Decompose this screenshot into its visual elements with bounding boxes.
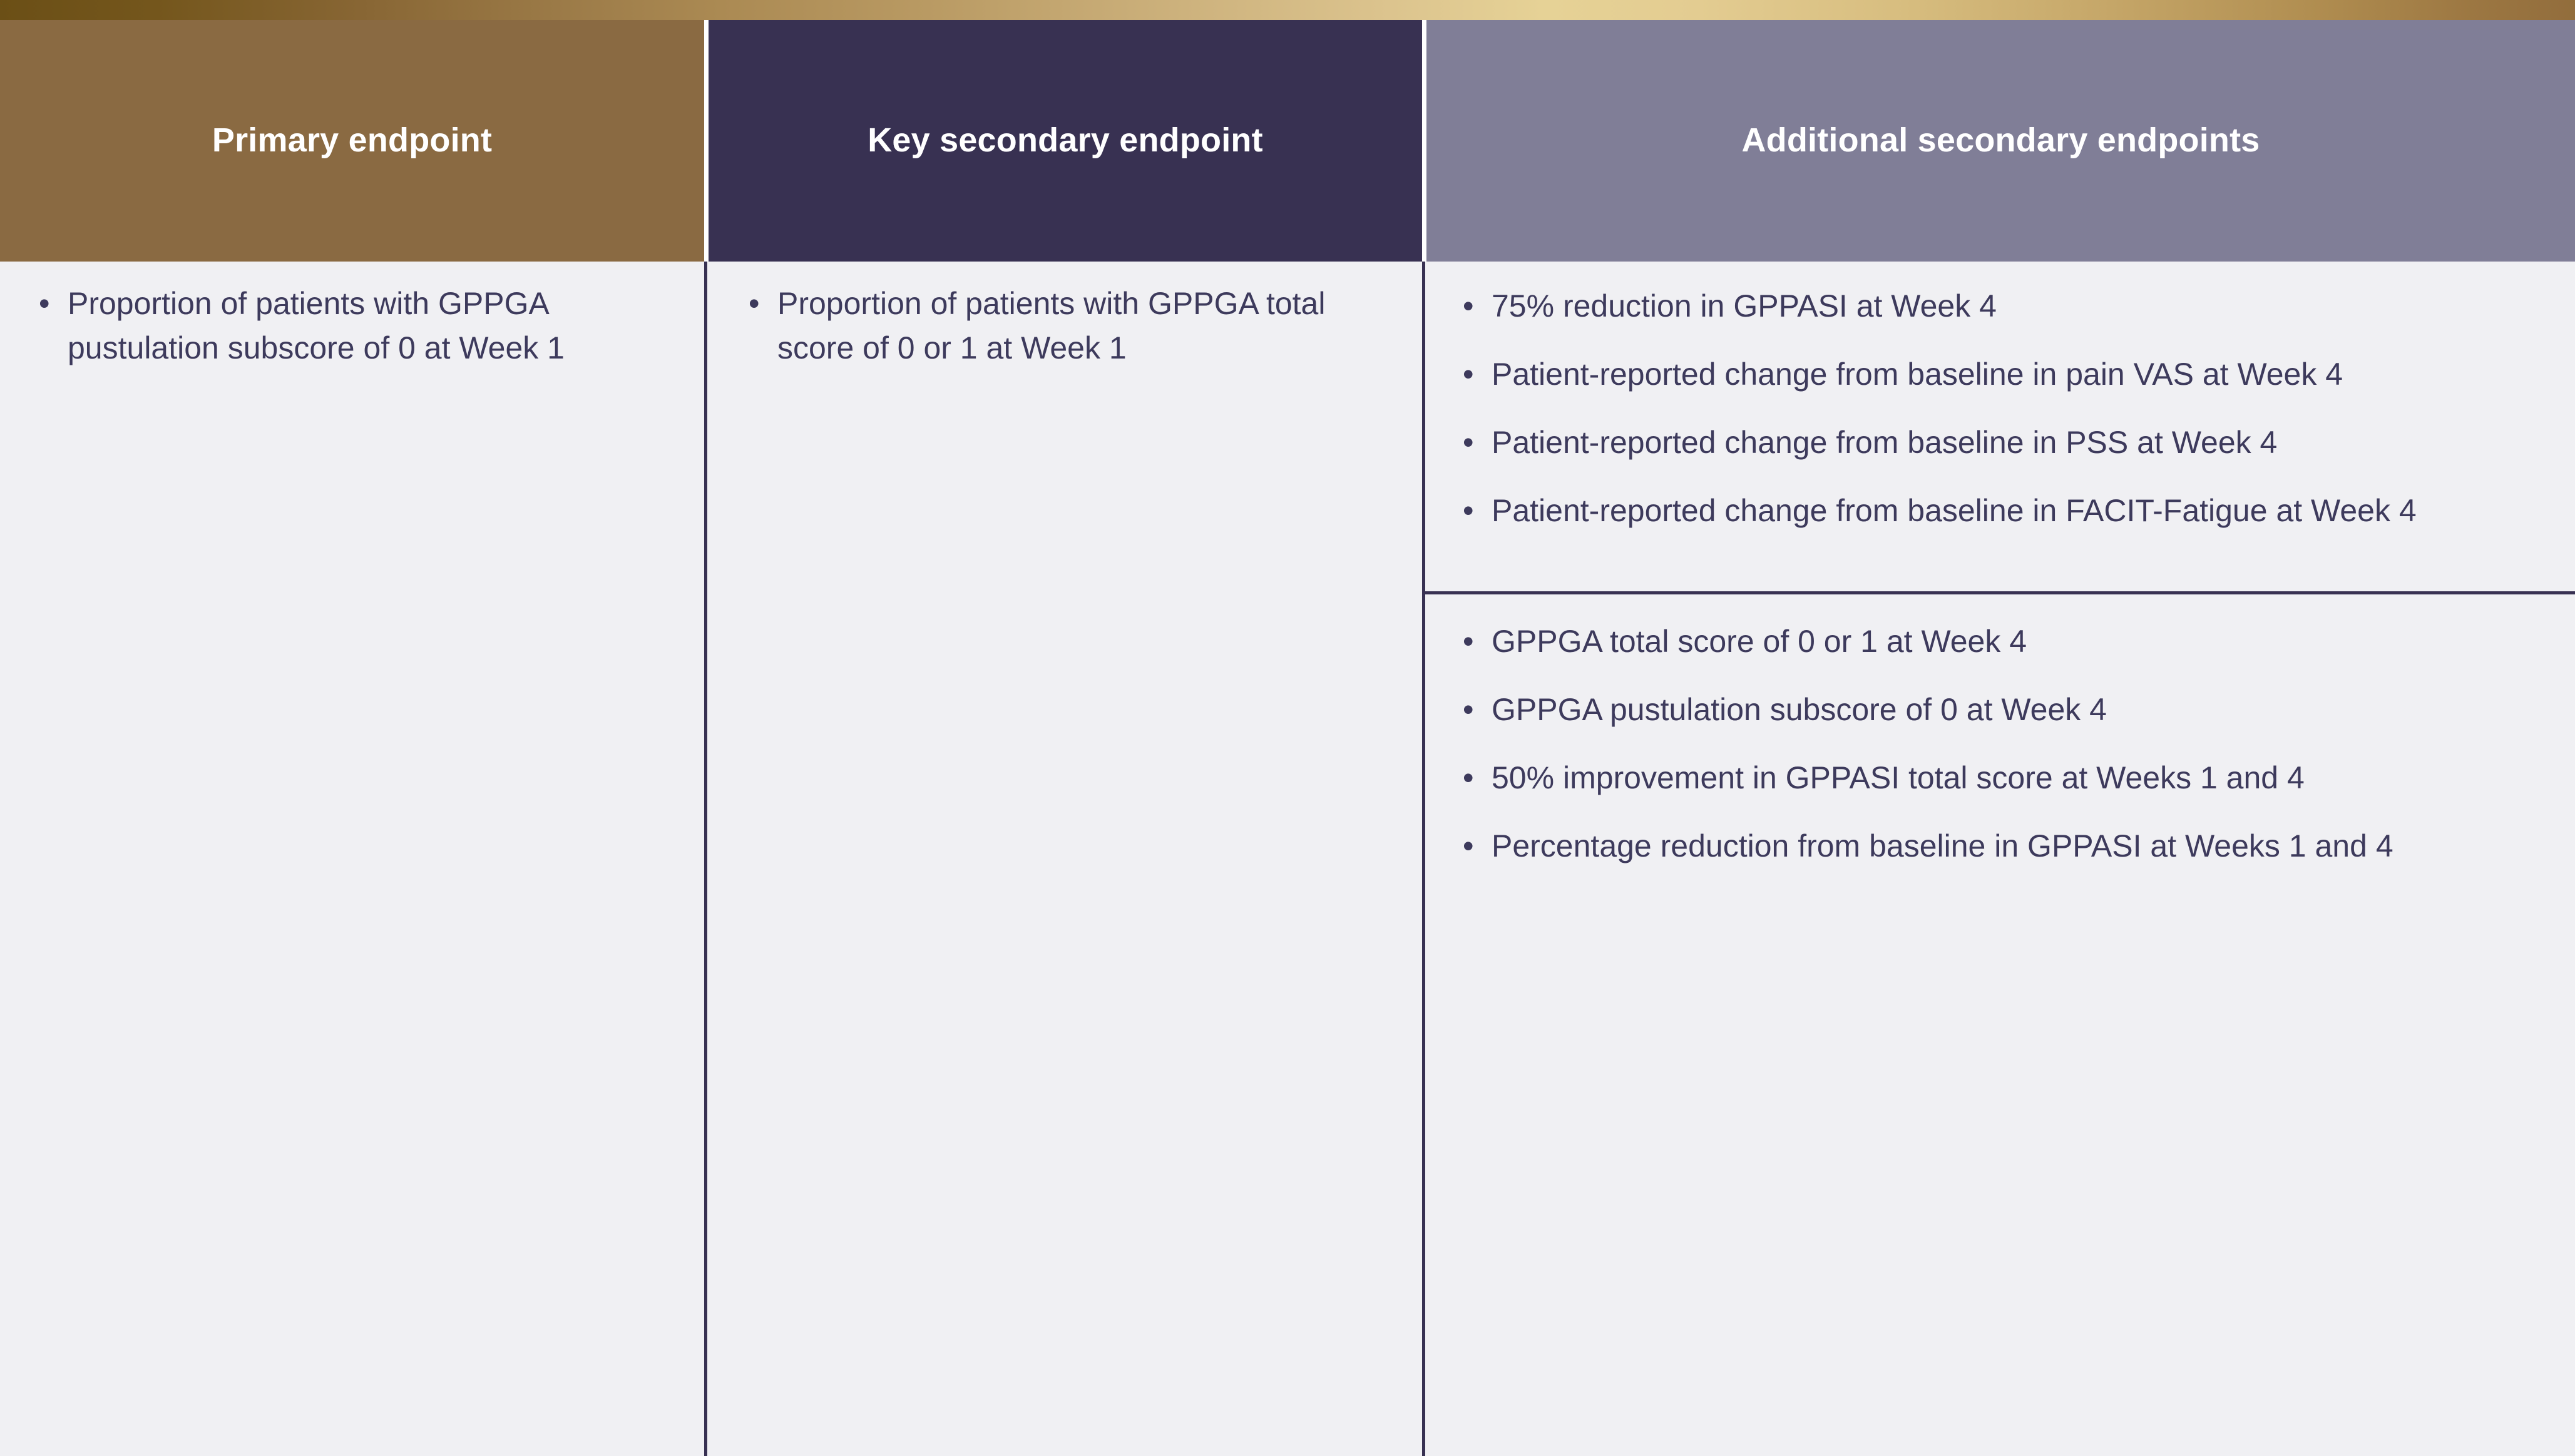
column-key-secondary-endpoint-content: Proportion of patients with GPPGA total … <box>707 262 1422 370</box>
bullet-list-primary-endpoint: Proportion of patients with GPPGA pustul… <box>39 262 660 370</box>
bullet-list-additional-section-2: GPPGA total score of 0 or 1 at Week 4 GP… <box>1463 619 2531 868</box>
header-title-key-secondary-endpoint: Key secondary endpoint <box>868 122 1263 159</box>
list-item: Patient-reported change from baseline in… <box>1463 352 2531 397</box>
bullet-list-additional-section-1: 75% reduction in GPPASI at Week 4 Patien… <box>1463 284 2531 533</box>
column-key-secondary-endpoint: Proportion of patients with GPPGA total … <box>704 262 1422 1456</box>
table-body-row: Proportion of patients with GPPGA pustul… <box>0 262 2575 1456</box>
additional-endpoints-section-exploratory: GPPGA total score of 0 or 1 at Week 4 GP… <box>1425 591 2575 893</box>
header-cell-primary-endpoint: Primary endpoint <box>0 20 704 262</box>
list-item: Percentage reduction from baseline in GP… <box>1463 824 2531 868</box>
list-item: 50% improvement in GPPASI total score at… <box>1463 756 2531 800</box>
additional-endpoints-section-week4: 75% reduction in GPPASI at Week 4 Patien… <box>1425 262 2575 558</box>
header-cell-key-secondary-endpoint: Key secondary endpoint <box>709 20 1422 262</box>
header-title-primary-endpoint: Primary endpoint <box>212 122 492 159</box>
gold-accent-strip <box>0 0 2575 20</box>
list-item: GPPGA total score of 0 or 1 at Week 4 <box>1463 619 2531 664</box>
list-item: Proportion of patients with GPPGA total … <box>749 282 1378 370</box>
list-item: 75% reduction in GPPASI at Week 4 <box>1463 284 2531 328</box>
endpoints-table: Primary endpoint Key secondary endpoint … <box>0 0 2575 1456</box>
list-item: GPPGA pustulation subscore of 0 at Week … <box>1463 688 2531 732</box>
column-primary-endpoint: Proportion of patients with GPPGA pustul… <box>0 262 704 1456</box>
list-item: Proportion of patients with GPPGA pustul… <box>39 282 660 370</box>
column-primary-endpoint-content: Proportion of patients with GPPGA pustul… <box>0 262 704 370</box>
column-additional-secondary-endpoints: 75% reduction in GPPASI at Week 4 Patien… <box>1422 262 2575 1456</box>
list-item: Patient-reported change from baseline in… <box>1463 489 2531 533</box>
bullet-list-key-secondary-endpoint: Proportion of patients with GPPGA total … <box>749 262 1378 370</box>
header-title-additional-secondary-endpoints: Additional secondary endpoints <box>1741 122 2260 159</box>
table-header-row: Primary endpoint Key secondary endpoint … <box>0 20 2575 262</box>
header-cell-additional-secondary-endpoints: Additional secondary endpoints <box>1426 20 2575 262</box>
list-item: Patient-reported change from baseline in… <box>1463 420 2531 465</box>
